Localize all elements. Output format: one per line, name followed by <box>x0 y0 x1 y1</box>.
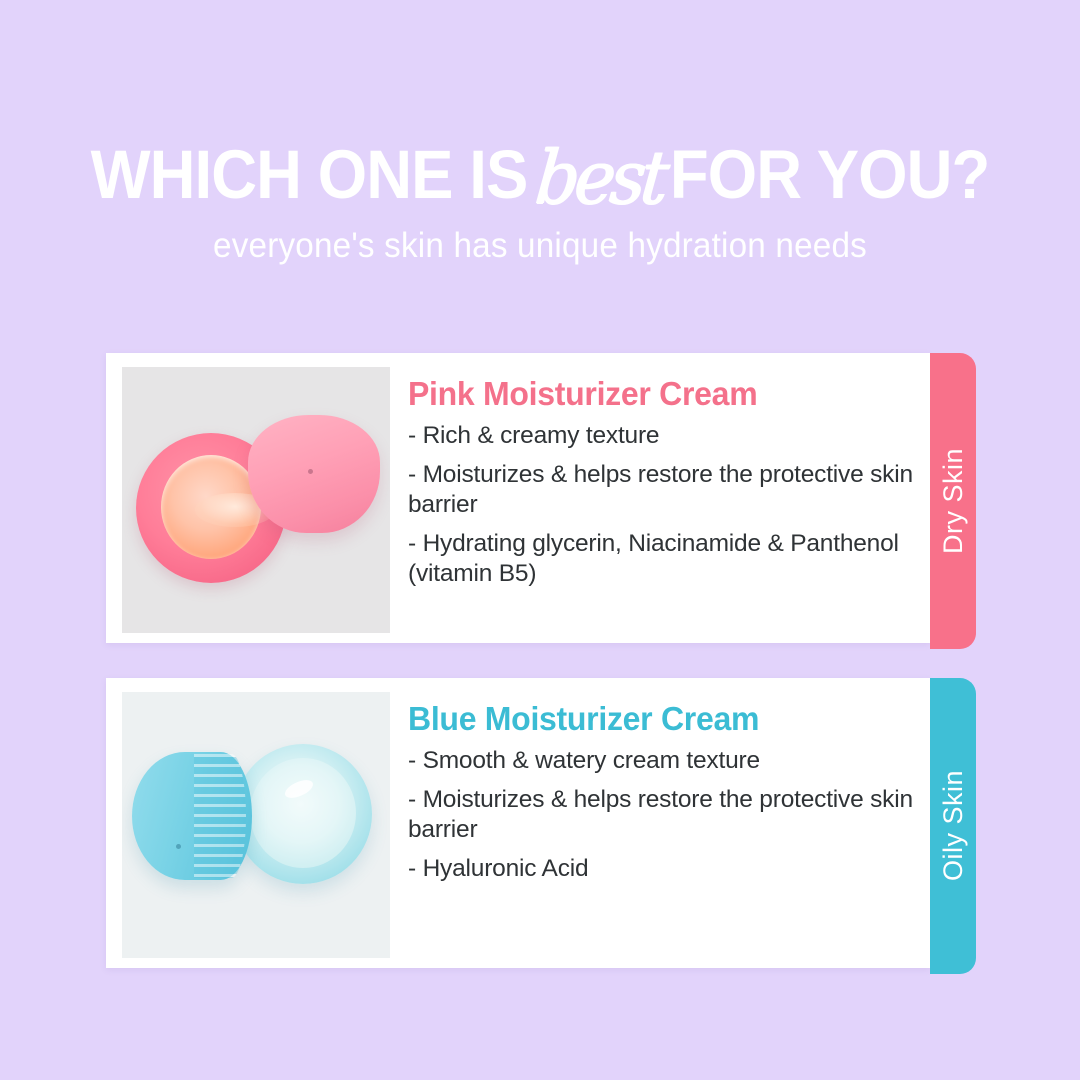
skin-type-tab-label: Dry Skin <box>938 448 969 554</box>
pink-cream-icon <box>161 455 261 559</box>
product-title-pink: Pink Moisturizer Cream <box>408 375 899 413</box>
product-bullet: - Rich & creamy texture <box>408 421 914 451</box>
header-block: WHICH ONE ISbestFOR YOU? everyone's skin… <box>0 0 1080 266</box>
product-image-blue <box>122 692 390 958</box>
product-bullet: - Moisturizes & helps restore the protec… <box>408 785 914 845</box>
blue-lid-dot-icon <box>176 844 181 849</box>
headline-script-word: best <box>533 137 669 219</box>
pink-lid-icon <box>248 415 380 533</box>
product-bullet: - Moisturizes & helps restore the protec… <box>408 460 914 520</box>
product-bullet: - Hyaluronic Acid <box>408 854 914 884</box>
card-body-blue: Blue Moisturizer Cream - Smooth & watery… <box>390 678 930 893</box>
product-title-blue: Blue Moisturizer Cream <box>408 700 899 738</box>
product-bullet: - Smooth & watery cream texture <box>408 746 914 776</box>
page-subtitle: everyone's skin has unique hydration nee… <box>27 214 1053 266</box>
pink-lid-dot-icon <box>308 469 313 474</box>
product-image-pink <box>122 367 390 633</box>
blue-lid-ridges-icon <box>194 754 246 878</box>
product-card-pink[interactable]: Pink Moisturizer Cream - Rich & creamy t… <box>106 353 930 643</box>
product-bullet: - Hydrating glycerin, Niacinamide & Pant… <box>408 529 914 589</box>
headline-part-one: WHICH ONE IS <box>91 134 528 216</box>
page-headline: WHICH ONE ISbestFOR YOU? <box>43 0 1037 214</box>
skin-type-tab-oily[interactable]: Oily Skin <box>930 678 976 974</box>
skin-type-tab-dry[interactable]: Dry Skin <box>930 353 976 649</box>
headline-part-two: FOR YOU? <box>670 134 989 216</box>
card-body-pink: Pink Moisturizer Cream - Rich & creamy t… <box>390 353 930 598</box>
product-card-blue[interactable]: Blue Moisturizer Cream - Smooth & watery… <box>106 678 930 968</box>
blue-jar-icon <box>234 744 372 884</box>
blue-cream-glint-icon <box>282 777 315 802</box>
skin-type-tab-label: Oily Skin <box>938 770 969 881</box>
blue-cream-icon <box>250 758 356 868</box>
